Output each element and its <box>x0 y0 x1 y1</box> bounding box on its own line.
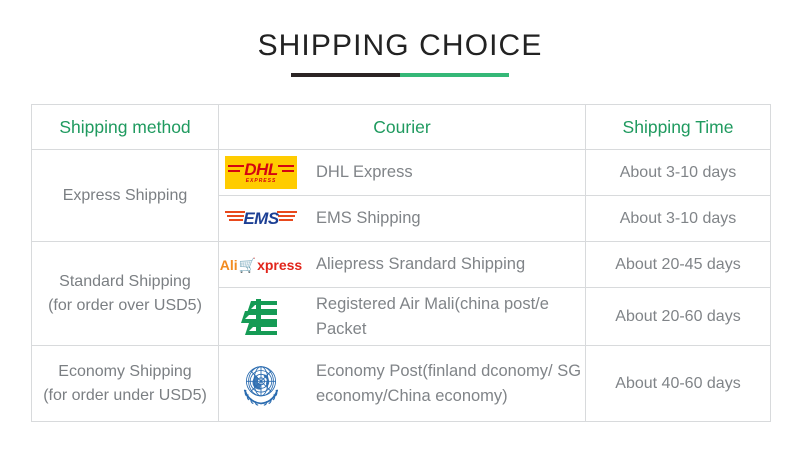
title-underline-left <box>291 73 400 77</box>
un-logo <box>219 364 303 404</box>
method-standard-shipping: Standard Shipping (for order over USD5) <box>32 242 219 346</box>
courier-cell-dhl: DHL EXPRESS DHL Express <box>219 150 586 196</box>
method-title: Express Shipping <box>63 187 188 204</box>
courier-name: Aliepress Srandard Shipping <box>316 252 525 277</box>
page-title-block: SHIPPING CHOICE <box>0 28 800 77</box>
table-row: Express Shipping DHL EXPRESS <box>32 150 771 196</box>
title-underline-right <box>400 73 509 77</box>
method-express-shipping: Express Shipping <box>32 150 219 242</box>
dhl-logo-text: DHL <box>244 161 277 178</box>
method-subtitle: (for order over USD5) <box>32 294 218 318</box>
courier-cell-china-post: Registered Air Mali(china post/e Packet <box>219 288 586 346</box>
page-title: SHIPPING CHOICE <box>0 28 800 64</box>
ems-logo: EMS <box>219 199 303 239</box>
dhl-logo: DHL EXPRESS <box>219 153 303 193</box>
ems-logo-text: EMS <box>243 210 278 228</box>
method-title: Economy Shipping <box>58 363 191 380</box>
title-underline <box>291 73 509 77</box>
shipping-time-value: About 3-10 days <box>586 196 771 242</box>
shipping-time-value: About 20-45 days <box>586 242 771 288</box>
header-shipping-time: Shipping Time <box>586 105 771 150</box>
shopping-cart-icon: 🛒 <box>239 257 256 273</box>
united-nations-emblem-icon <box>234 357 288 411</box>
courier-cell-economy-post: Economy Post(finland dconomy/ SG economy… <box>219 346 586 422</box>
aliexpress-logo: Ali 🛒 xpress <box>219 245 303 285</box>
aliexpress-logo-subtext: xpress <box>257 257 302 273</box>
courier-cell-ems: EMS EMS Shipping <box>219 196 586 242</box>
shipping-time-value: About 3-10 days <box>586 150 771 196</box>
dhl-logo-subtext: EXPRESS <box>246 178 277 185</box>
header-shipping-method: Shipping method <box>32 105 219 150</box>
courier-name: Economy Post(finland dconomy/ SG economy… <box>316 359 585 409</box>
courier-name: Registered Air Mali(china post/e Packet <box>316 292 585 342</box>
shipping-table: Shipping method Courier Shipping Time Ex… <box>31 104 771 422</box>
courier-name: DHL Express <box>316 160 413 185</box>
header-courier: Courier <box>219 105 586 150</box>
method-title: Standard Shipping <box>59 273 191 290</box>
table-row: Economy Shipping (for order under USD5) <box>32 346 771 422</box>
aliexpress-logo-text: Ali <box>220 257 238 273</box>
shipping-table-wrap: Shipping method Courier Shipping Time Ex… <box>31 104 770 422</box>
method-subtitle: (for order under USD5) <box>32 384 218 408</box>
shipping-choice-page: SHIPPING CHOICE Shipping method Courier … <box>0 0 800 462</box>
shipping-time-value: About 40-60 days <box>586 346 771 422</box>
table-header-row: Shipping method Courier Shipping Time <box>32 105 771 150</box>
china-post-logo <box>219 297 303 337</box>
shipping-time-value: About 20-60 days <box>586 288 771 346</box>
courier-name: EMS Shipping <box>316 206 421 231</box>
courier-cell-aliexpress: Ali 🛒 xpress Aliepress Srandard Shipping <box>219 242 586 288</box>
method-economy-shipping: Economy Shipping (for order under USD5) <box>32 346 219 422</box>
table-row: Standard Shipping (for order over USD5) … <box>32 242 771 288</box>
china-post-emblem-icon <box>239 297 283 337</box>
